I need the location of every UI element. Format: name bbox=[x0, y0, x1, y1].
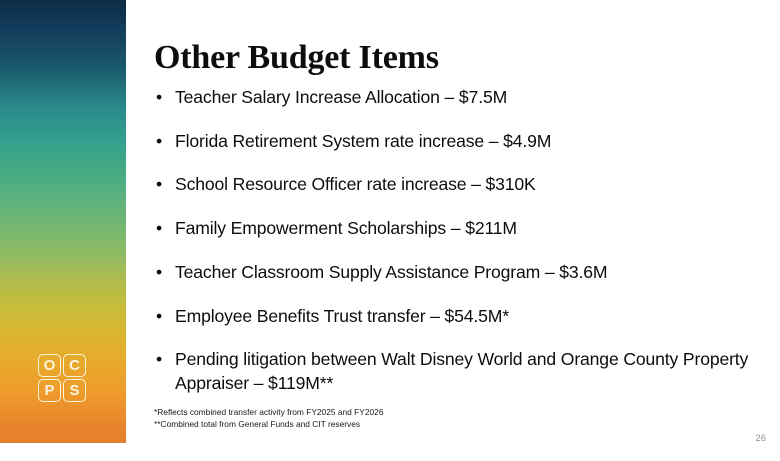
list-item: • Florida Retirement System rate increas… bbox=[152, 130, 752, 153]
bullet-point-icon: • bbox=[156, 173, 162, 196]
list-item-label: Employee Benefits Trust transfer – $54.5… bbox=[175, 306, 509, 326]
logo-tile-s: S bbox=[63, 379, 86, 402]
slide-content: Other Budget Items • Teacher Salary Incr… bbox=[152, 0, 764, 461]
list-item-label: Florida Retirement System rate increase … bbox=[175, 131, 551, 151]
bullet-point-icon: • bbox=[156, 348, 162, 371]
list-item: • Teacher Classroom Supply Assistance Pr… bbox=[152, 261, 752, 284]
bullet-point-icon: • bbox=[156, 217, 162, 240]
list-item-label: Teacher Classroom Supply Assistance Prog… bbox=[175, 262, 607, 282]
slide-number: 26 bbox=[755, 433, 766, 444]
logo-tile-c: C bbox=[63, 354, 86, 377]
bullet-list: • Teacher Salary Increase Allocation – $… bbox=[152, 86, 752, 415]
page-title: Other Budget Items bbox=[154, 40, 439, 76]
list-item-label: Family Empowerment Scholarships – $211M bbox=[175, 218, 517, 238]
bullet-point-icon: • bbox=[156, 130, 162, 153]
bullet-point-icon: • bbox=[156, 261, 162, 284]
list-item: • Teacher Salary Increase Allocation – $… bbox=[152, 86, 752, 109]
list-item: • Family Empowerment Scholarships – $211… bbox=[152, 217, 752, 240]
list-item: • School Resource Officer rate increase … bbox=[152, 173, 752, 196]
list-item-label: Teacher Salary Increase Allocation – $7.… bbox=[175, 87, 507, 107]
footnotes: *Reflects combined transfer activity fro… bbox=[154, 406, 384, 430]
footnote-line-2: **Combined total from General Funds and … bbox=[154, 418, 384, 430]
list-item: • Employee Benefits Trust transfer – $54… bbox=[152, 305, 752, 328]
bullet-point-icon: • bbox=[156, 86, 162, 109]
slide-canvas: O C P S Other Budget Items • Teacher Sal… bbox=[0, 0, 780, 461]
bullet-point-icon: • bbox=[156, 305, 162, 328]
list-item-label: Pending litigation between Walt Disney W… bbox=[175, 349, 748, 392]
logo-tile-o: O bbox=[38, 354, 61, 377]
logo-tile-p: P bbox=[38, 379, 61, 402]
footnote-line-1: *Reflects combined transfer activity fro… bbox=[154, 406, 384, 418]
ocps-logo: O C P S bbox=[38, 354, 86, 402]
list-item: • Pending litigation between Walt Disney… bbox=[152, 348, 752, 394]
list-item-label: School Resource Officer rate increase – … bbox=[175, 174, 536, 194]
